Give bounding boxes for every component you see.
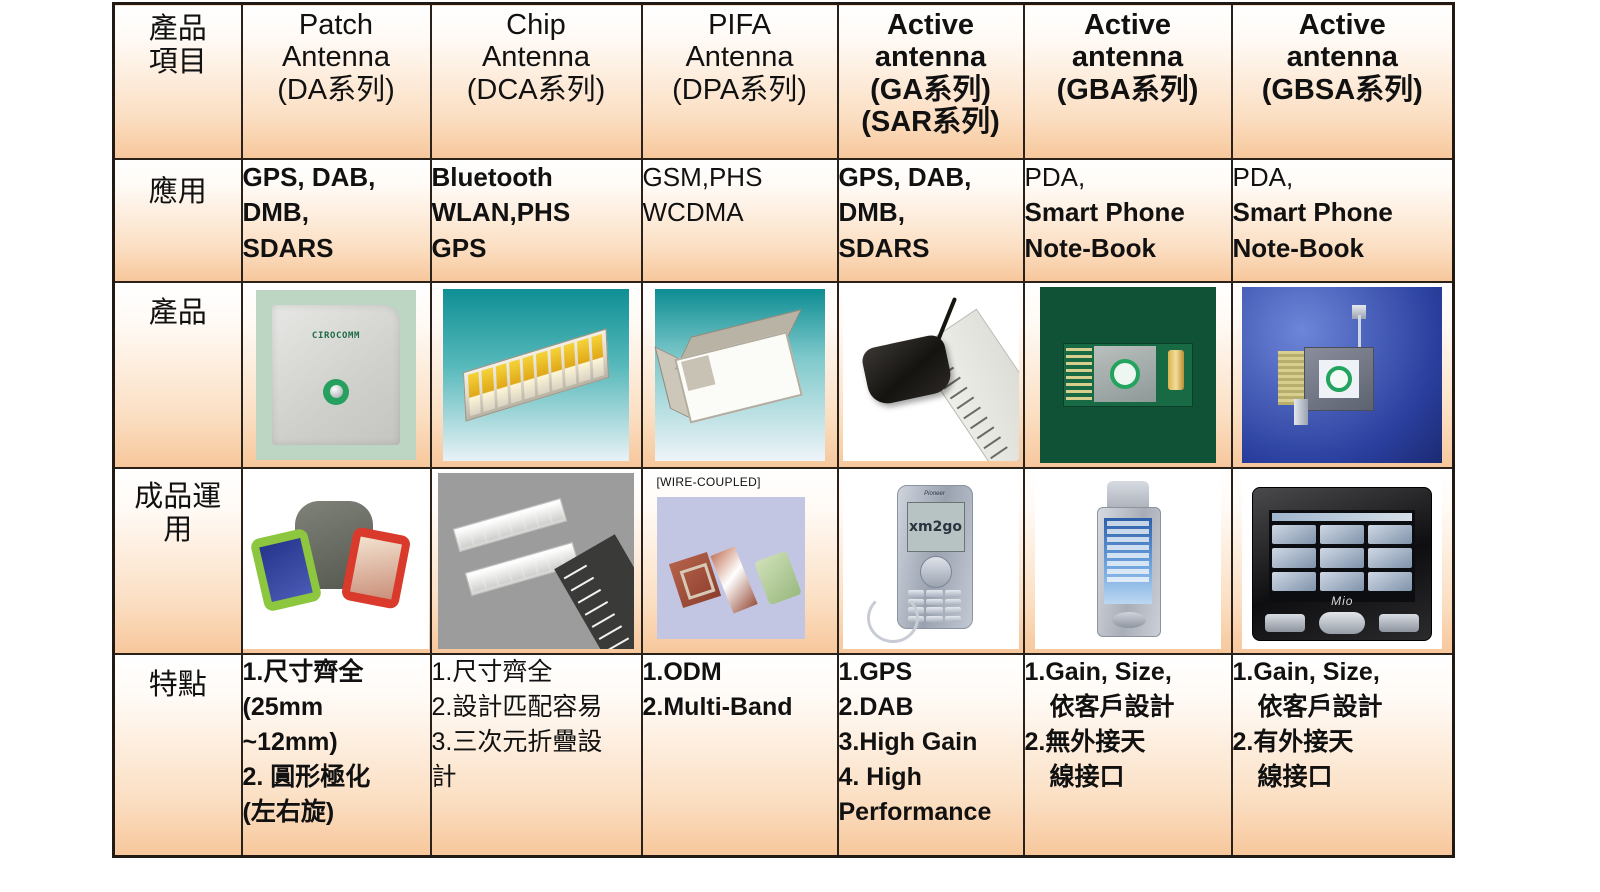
column-header-ga: Active antenna (GA系列) (SAR系列) <box>838 4 1024 159</box>
header-line1: Chip <box>436 9 637 41</box>
application-line: PDA, <box>1025 160 1231 195</box>
product-image-cell-ga <box>838 282 1024 468</box>
features-cell-ga: 1.GPS 2.DAB 3.High Gain 4. High Performa… <box>838 654 1024 856</box>
header-series: (DCA系列) <box>436 74 637 106</box>
feature-line: 1.Gain, Size, <box>1233 655 1453 690</box>
chip-antenna-with-ruler-photo <box>438 473 634 649</box>
features-cell-gbsa: 1.Gain, Size, 依客戶設計 2.有外接天 線接口 <box>1232 654 1454 856</box>
feature-line: 線接口 <box>1233 760 1453 795</box>
feature-line: 線接口 <box>1025 760 1231 795</box>
feature-line: 1.ODM <box>643 655 837 690</box>
features-cell-pifa: 1.ODM 2.Multi-Band <box>642 654 838 856</box>
feed-pin-icon <box>323 379 349 405</box>
features-cell-patch: 1.尺寸齊全 (25mm ~12mm) 2. 圓形極化 (左右旋) <box>242 654 431 856</box>
use-image-cell-gbsa: Mio <box>1232 468 1454 654</box>
features-cell-gba: 1.Gain, Size, 依客戶設計 2.無外接天 線接口 <box>1024 654 1232 856</box>
feature-line: 1.尺寸齊全 <box>243 655 430 690</box>
slide-canvas: 產品 項目 Patch Antenna (DA系列) Chip Antenna … <box>0 0 1600 892</box>
product-image-cell-patch: CIROCOMM <box>242 282 431 468</box>
feature-line: 2.DAB <box>839 690 1023 725</box>
gbsa-antenna-on-blue-background-photo <box>1242 287 1442 463</box>
row-label-header-line2: 項目 <box>115 46 241 79</box>
column-header-gba: Active antenna (GBA系列) <box>1024 4 1232 159</box>
use-image-cell-chip <box>431 468 642 654</box>
header-series: (DA系列) <box>247 74 426 106</box>
mio-handheld-navigator-photo: Mio <box>1242 473 1442 649</box>
feature-line: 2. 圓形極化 <box>243 760 430 795</box>
feature-line: 依客戶設計 <box>1233 690 1453 725</box>
table-features-row: 特點 1.尺寸齊全 (25mm ~12mm) 2. 圓形極化 (左右旋) 1.尺… <box>114 654 1454 856</box>
column-header-pifa: PIFA Antenna (DPA系列) <box>642 4 838 159</box>
header-line1: Patch <box>247 9 426 41</box>
feature-line: 1.GPS <box>839 655 1023 690</box>
gps-puck-antenna-with-ruler-photo <box>843 289 1019 461</box>
feature-line: 3.三次元折疊設 <box>432 725 641 760</box>
header-series-sar: (SAR系列) <box>843 106 1019 138</box>
portable-navigators-photo <box>243 473 429 649</box>
application-cell-gba: PDA, Smart Phone Note-Book <box>1024 159 1232 282</box>
cirocomm-logo-text: CIROCOMM <box>272 331 400 341</box>
application-line: GPS, DAB, <box>839 160 1023 195</box>
application-line: Smart Phone <box>1025 195 1231 230</box>
header-series: (GBA系列) <box>1029 74 1227 106</box>
feature-line: 4. High <box>839 760 1023 795</box>
feature-line: 依客戶設計 <box>1025 690 1231 725</box>
row-label-application: 應用 <box>114 159 242 282</box>
use-image-cell-pifa: [WIRE-COUPLED] <box>642 468 838 654</box>
header-series: (GBSA系列) <box>1237 74 1449 106</box>
application-line: SDARS <box>839 231 1023 266</box>
column-header-chip: Chip Antenna (DCA系列) <box>431 4 642 159</box>
application-cell-gbsa: PDA, Smart Phone Note-Book <box>1232 159 1454 282</box>
column-header-gbsa: Active antenna (GBSA系列) <box>1232 4 1454 159</box>
row-label-features: 特點 <box>114 654 242 856</box>
mio-brand-text: Mio <box>1253 594 1431 608</box>
product-image-cell-chip <box>431 282 642 468</box>
pifa-antenna-render <box>655 289 825 461</box>
header-line1: Active <box>1029 9 1227 41</box>
table-product-row: 產品 CIROCOMM <box>114 282 1454 468</box>
header-line2: antenna <box>843 41 1019 73</box>
application-line: GSM,PHS <box>643 160 837 195</box>
use-image-cell-ga: Pioneer xm2go <box>838 468 1024 654</box>
application-line: DMB, <box>839 195 1023 230</box>
application-line: WLAN,PHS <box>432 195 641 230</box>
header-line2: antenna <box>1237 41 1449 73</box>
application-line: GPS, DAB, <box>243 160 430 195</box>
patch-antenna-photo: CIROCOMM <box>256 290 416 460</box>
earphone-cord <box>867 593 919 643</box>
chip-antenna-photo <box>443 289 629 461</box>
application-line: Bluetooth <box>432 160 641 195</box>
table-use-row: 成品運 用 [WIRE-COUPLED] <box>114 468 1454 654</box>
use-image-cell-patch <box>242 468 431 654</box>
product-image-cell-pifa <box>642 282 838 468</box>
features-cell-chip: 1.尺寸齊全 2.設計匹配容易 3.三次元折疊設 計 <box>431 654 642 856</box>
table-header-row: 產品 項目 Patch Antenna (DA系列) Chip Antenna … <box>114 4 1454 159</box>
feature-line: (25mm <box>243 690 430 725</box>
header-line2: antenna <box>1029 41 1227 73</box>
header-line2: Antenna <box>436 41 637 73</box>
application-line: DMB, <box>243 195 430 230</box>
row-label-header: 產品 項目 <box>114 4 242 159</box>
application-cell-ga: GPS, DAB, DMB, SDARS <box>838 159 1024 282</box>
gba-module-on-green-pcb-photo <box>1040 287 1216 463</box>
application-cell-pifa: GSM,PHS WCDMA <box>642 159 838 282</box>
application-line: Smart Phone <box>1233 195 1453 230</box>
feature-line: 1.Gain, Size, <box>1025 655 1231 690</box>
use-image-cell-gba <box>1024 468 1232 654</box>
row-label-product: 產品 <box>114 282 242 468</box>
row-label-header-line1: 產品 <box>115 13 241 46</box>
product-comparison-table: 產品 項目 Patch Antenna (DA系列) Chip Antenna … <box>112 2 1455 858</box>
header-line2: Antenna <box>247 41 426 73</box>
row-label-use-line1: 成品運 <box>115 481 241 514</box>
wire-coupled-antennas-photo <box>657 497 805 639</box>
wire-coupled-label: [WIRE-COUPLED] <box>657 475 761 489</box>
feature-line: (左右旋) <box>243 795 430 830</box>
application-line: Note-Book <box>1233 231 1453 266</box>
product-image-cell-gba <box>1024 282 1232 468</box>
feature-line: 2.無外接天 <box>1025 725 1231 760</box>
feature-line: ~12mm) <box>243 725 430 760</box>
application-line: SDARS <box>243 231 430 266</box>
header-line1: PIFA <box>647 9 833 41</box>
header-series: (GA系列) <box>843 74 1019 106</box>
row-label-use-line2: 用 <box>115 514 241 547</box>
pioneer-xm2go-handheld-photo: Pioneer xm2go <box>843 473 1019 649</box>
header-line1: Active <box>843 9 1019 41</box>
row-label-use: 成品運 用 <box>114 468 242 654</box>
application-line: Note-Book <box>1025 231 1231 266</box>
header-line2: Antenna <box>647 41 833 73</box>
table-application-row: 應用 GPS, DAB, DMB, SDARS Bluetooth WLAN,P… <box>114 159 1454 282</box>
feature-line: 1.尺寸齊全 <box>432 655 641 690</box>
pocket-pc-pda-photo <box>1035 473 1221 649</box>
feature-line: Performance <box>839 795 1023 830</box>
application-line: WCDMA <box>643 195 837 230</box>
feature-line: 2.Multi-Band <box>643 690 837 725</box>
xm2go-screen-text: xm2go <box>909 519 962 535</box>
feature-line: 2.設計匹配容易 <box>432 690 641 725</box>
application-cell-patch: GPS, DAB, DMB, SDARS <box>242 159 431 282</box>
feature-line: 2.有外接天 <box>1233 725 1453 760</box>
application-line: GPS <box>432 231 641 266</box>
feature-line: 3.High Gain <box>839 725 1023 760</box>
header-series: (DPA系列) <box>647 74 833 106</box>
feature-line: 計 <box>432 760 641 795</box>
column-header-patch: Patch Antenna (DA系列) <box>242 4 431 159</box>
application-line: PDA, <box>1233 160 1453 195</box>
header-line1: Active <box>1237 9 1449 41</box>
application-cell-chip: Bluetooth WLAN,PHS GPS <box>431 159 642 282</box>
product-image-cell-gbsa <box>1232 282 1454 468</box>
pioneer-brand-text: Pioneer <box>898 491 972 497</box>
